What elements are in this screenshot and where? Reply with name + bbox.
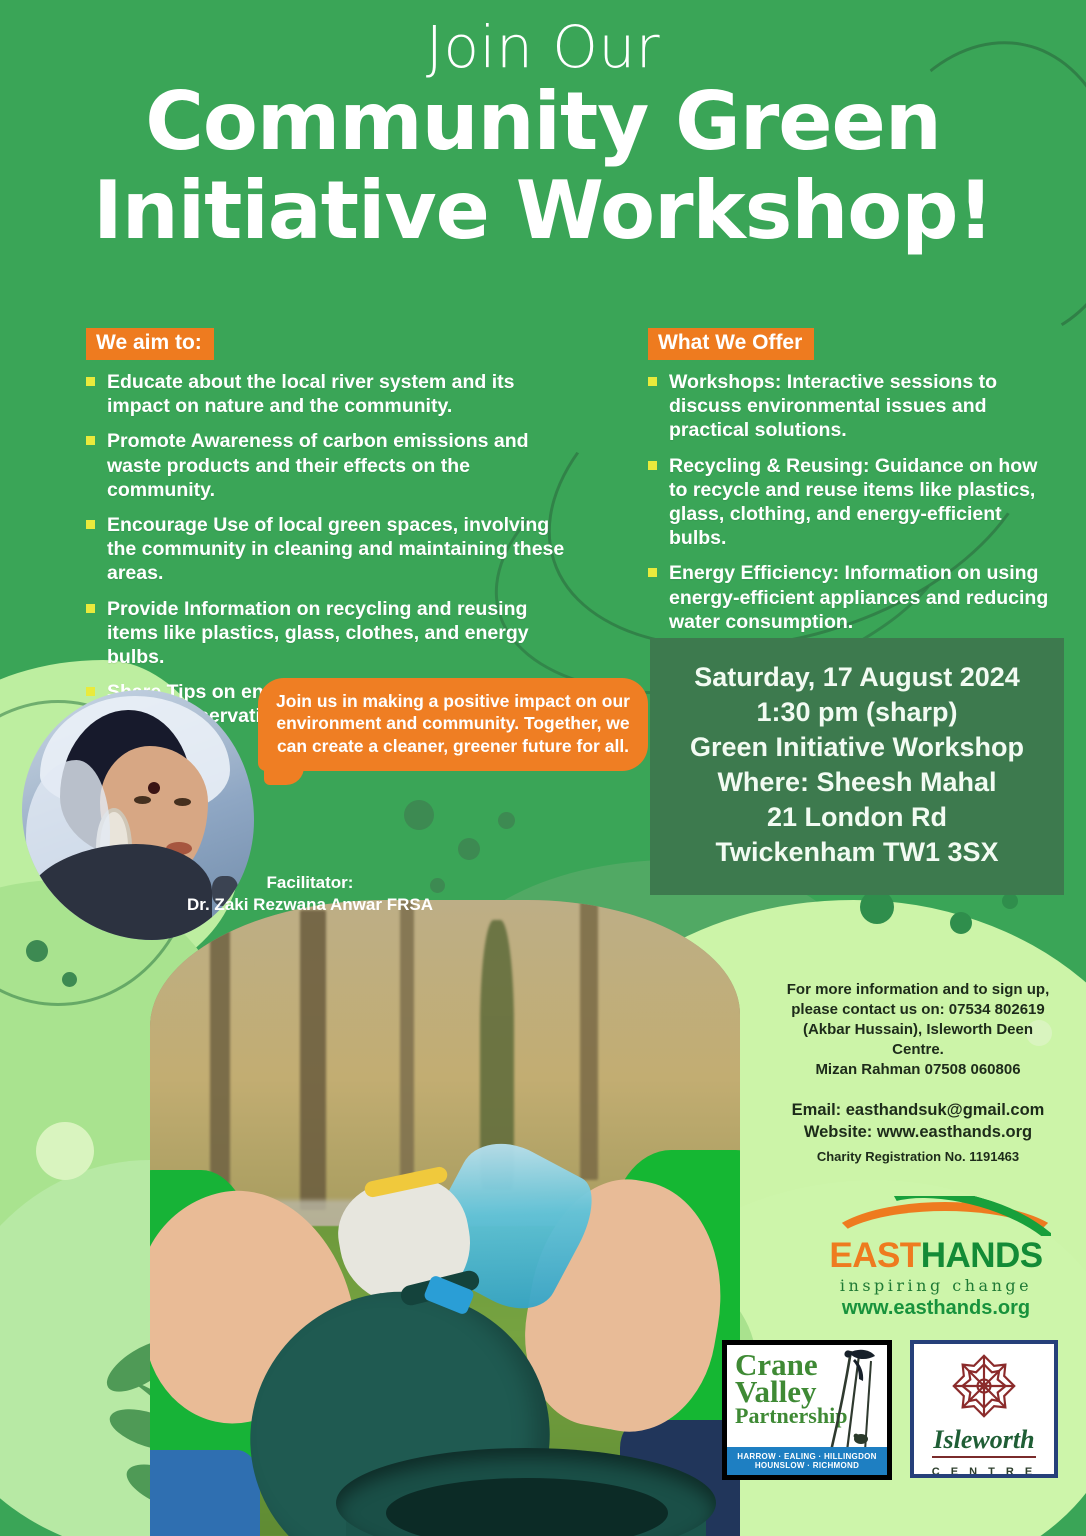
facilitator-caption: Facilitator: Dr. Zaki Rezwana Anwar FRSA: [170, 872, 450, 916]
cvp-boroughs-band: HARROW · EALING · HILLINGDON HOUNSLOW · …: [727, 1447, 887, 1475]
aims-list-item: Provide Information on recycling and reu…: [86, 597, 576, 670]
decorative-dot: [498, 812, 515, 829]
logo-arc-icon: [821, 1196, 1051, 1236]
isleworth-title: Isleworth: [914, 1427, 1054, 1453]
contact-line-3: (Akbar Hussain), Isleworth Deen Centre.: [784, 1020, 1052, 1060]
headline-line-2: Community Green: [0, 80, 1086, 165]
aims-heading-badge: We aim to:: [86, 328, 214, 360]
photo-tree: [300, 910, 326, 1210]
facilitator-role: Facilitator:: [170, 872, 450, 894]
decorative-dot: [404, 800, 434, 830]
decorative-dot: [458, 838, 480, 860]
offer-list-item: Energy Efficiency: Information on using …: [648, 561, 1060, 634]
logo-word-east: EAST: [829, 1236, 920, 1275]
decorative-dot: [1002, 893, 1018, 909]
decorative-dot: [36, 1122, 94, 1180]
event-venue: Where: Sheesh Mahal: [660, 765, 1054, 800]
decorative-dot: [26, 940, 48, 962]
photo-tree: [400, 900, 414, 1190]
photo-bindi: [148, 782, 160, 794]
aims-list: Educate about the local river system and…: [86, 370, 576, 728]
decorative-dot: [860, 890, 894, 924]
logo-tagline: inspiring change: [812, 1276, 1060, 1295]
photo-eye: [134, 796, 151, 804]
event-details-box: Saturday, 17 August 2024 1:30 pm (sharp)…: [650, 638, 1064, 895]
contact-email[interactable]: Email: easthandsuk@gmail.com: [784, 1100, 1052, 1122]
contact-block: For more information and to sign up, ple…: [784, 980, 1052, 1165]
facilitator-name: Dr. Zaki Rezwana Anwar FRSA: [170, 894, 450, 916]
callout-message: Join us in making a positive impact on o…: [258, 678, 648, 771]
photo-tree: [210, 930, 230, 1190]
offer-heading-badge: What We Offer: [648, 328, 814, 360]
cvp-band-line-2: HOUNSLOW · RICHMOND: [755, 1461, 859, 1470]
event-time: 1:30 pm (sharp): [660, 695, 1054, 730]
aims-list-item: Encourage Use of local green spaces, inv…: [86, 513, 576, 586]
contact-line-2: please contact us on: 07534 802619: [784, 1000, 1052, 1020]
event-date: Saturday, 17 August 2024: [660, 660, 1054, 695]
contact-line-4: Mizan Rahman 07508 060806: [784, 1060, 1052, 1080]
easthands-logo: EASTHANDS inspiring change www.easthands…: [812, 1196, 1060, 1320]
event-title: Green Initiative Workshop: [660, 730, 1054, 765]
isleworth-rule: [932, 1456, 1036, 1458]
poster-canvas: Join Our Community Green Initiative Work…: [0, 0, 1086, 1536]
charity-registration: Charity Registration No. 1191463: [784, 1148, 1052, 1165]
crane-valley-partnership-logo: Crane Valley Partnership HARROW · EALING…: [722, 1340, 892, 1480]
geometric-rosette-icon: [942, 1350, 1026, 1422]
logo-wordmark: EASTHANDS: [812, 1238, 1060, 1273]
poster-headline: Join Our Community Green Initiative Work…: [0, 18, 1086, 254]
offer-list-item: Recycling & Reusing: Guidance on how to …: [648, 454, 1060, 551]
volunteers-recycling-photo: [150, 900, 740, 1536]
heron-reed-icon: [825, 1347, 879, 1451]
decorative-dot: [950, 912, 972, 934]
photo-eye: [174, 798, 191, 806]
offer-list-item: Workshops: Interactive sessions to discu…: [648, 370, 1060, 443]
decorative-dot: [62, 972, 77, 987]
aims-list-item: Promote Awareness of carbon emissions an…: [86, 429, 576, 502]
photo-volunteer-left-jeans: [150, 1450, 260, 1536]
photo-tree: [580, 900, 598, 1180]
event-address-line-2: Twickenham TW1 3SX: [660, 835, 1054, 870]
event-address-line-1: 21 London Rd: [660, 800, 1054, 835]
contact-website[interactable]: Website: www.easthands.org: [784, 1122, 1052, 1144]
offer-column: What We Offer Workshops: Interactive ses…: [648, 328, 1060, 645]
headline-line-1: Join Our: [0, 18, 1086, 76]
logo-word-hands: HANDS: [921, 1236, 1043, 1275]
isleworth-centre-logo: Isleworth C E N T R E: [910, 1340, 1058, 1478]
offer-list: Workshops: Interactive sessions to discu…: [648, 370, 1060, 634]
aims-list-item: Educate about the local river system and…: [86, 370, 576, 418]
partner-logos: Crane Valley Partnership HARROW · EALING…: [722, 1340, 1058, 1480]
logo-url[interactable]: www.easthands.org: [812, 1297, 1060, 1320]
contact-line-1: For more information and to sign up,: [784, 980, 1052, 1000]
cvp-band-line-1: HARROW · EALING · HILLINGDON: [737, 1452, 877, 1461]
isleworth-subtitle: C E N T R E: [914, 1466, 1054, 1478]
headline-line-3: Initiative Workshop!: [0, 169, 1086, 254]
